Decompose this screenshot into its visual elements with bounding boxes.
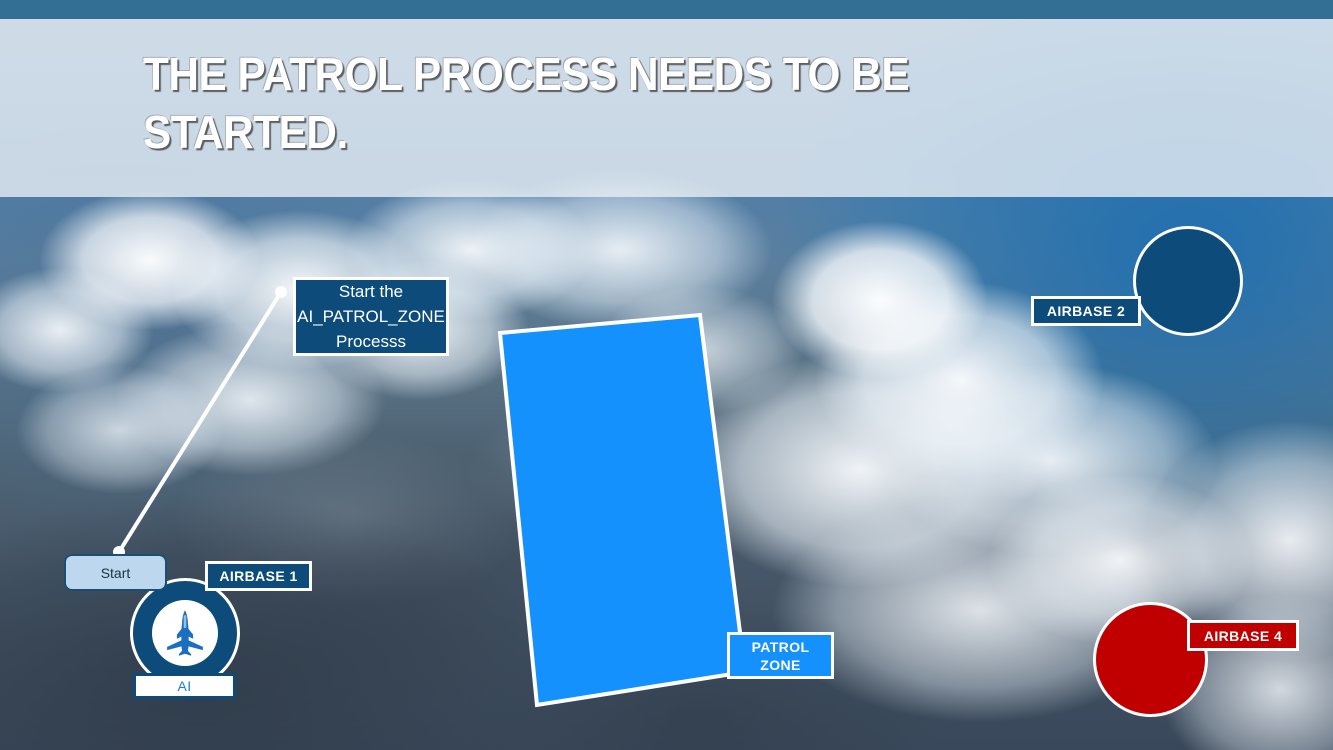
patrol-zone-label[interactable]: PATROL ZONE [727,632,834,679]
airbase-1-sublabel[interactable]: AI [133,673,236,699]
airbase-2-label[interactable]: AIRBASE 2 [1031,296,1141,326]
jet-icon-disc [152,600,218,666]
top-accent-bar [0,0,1333,19]
process-callout-box[interactable]: Start the AI_PATROL_ZONE Processs [293,277,449,356]
airbase-1-label[interactable]: AIRBASE 1 [205,561,312,591]
presentation-slide: THE PATROL PROCESS NEEDS TO BE STARTED. … [0,0,1333,750]
airbase-4-label[interactable]: AIRBASE 4 [1187,620,1299,651]
start-node-button[interactable]: Start [64,554,167,591]
airbase-2-circle[interactable] [1133,226,1243,336]
page-title: THE PATROL PROCESS NEEDS TO BE STARTED. [143,45,1063,161]
airbase-1-circle[interactable] [130,578,240,688]
fighter-jet-icon [159,607,211,659]
